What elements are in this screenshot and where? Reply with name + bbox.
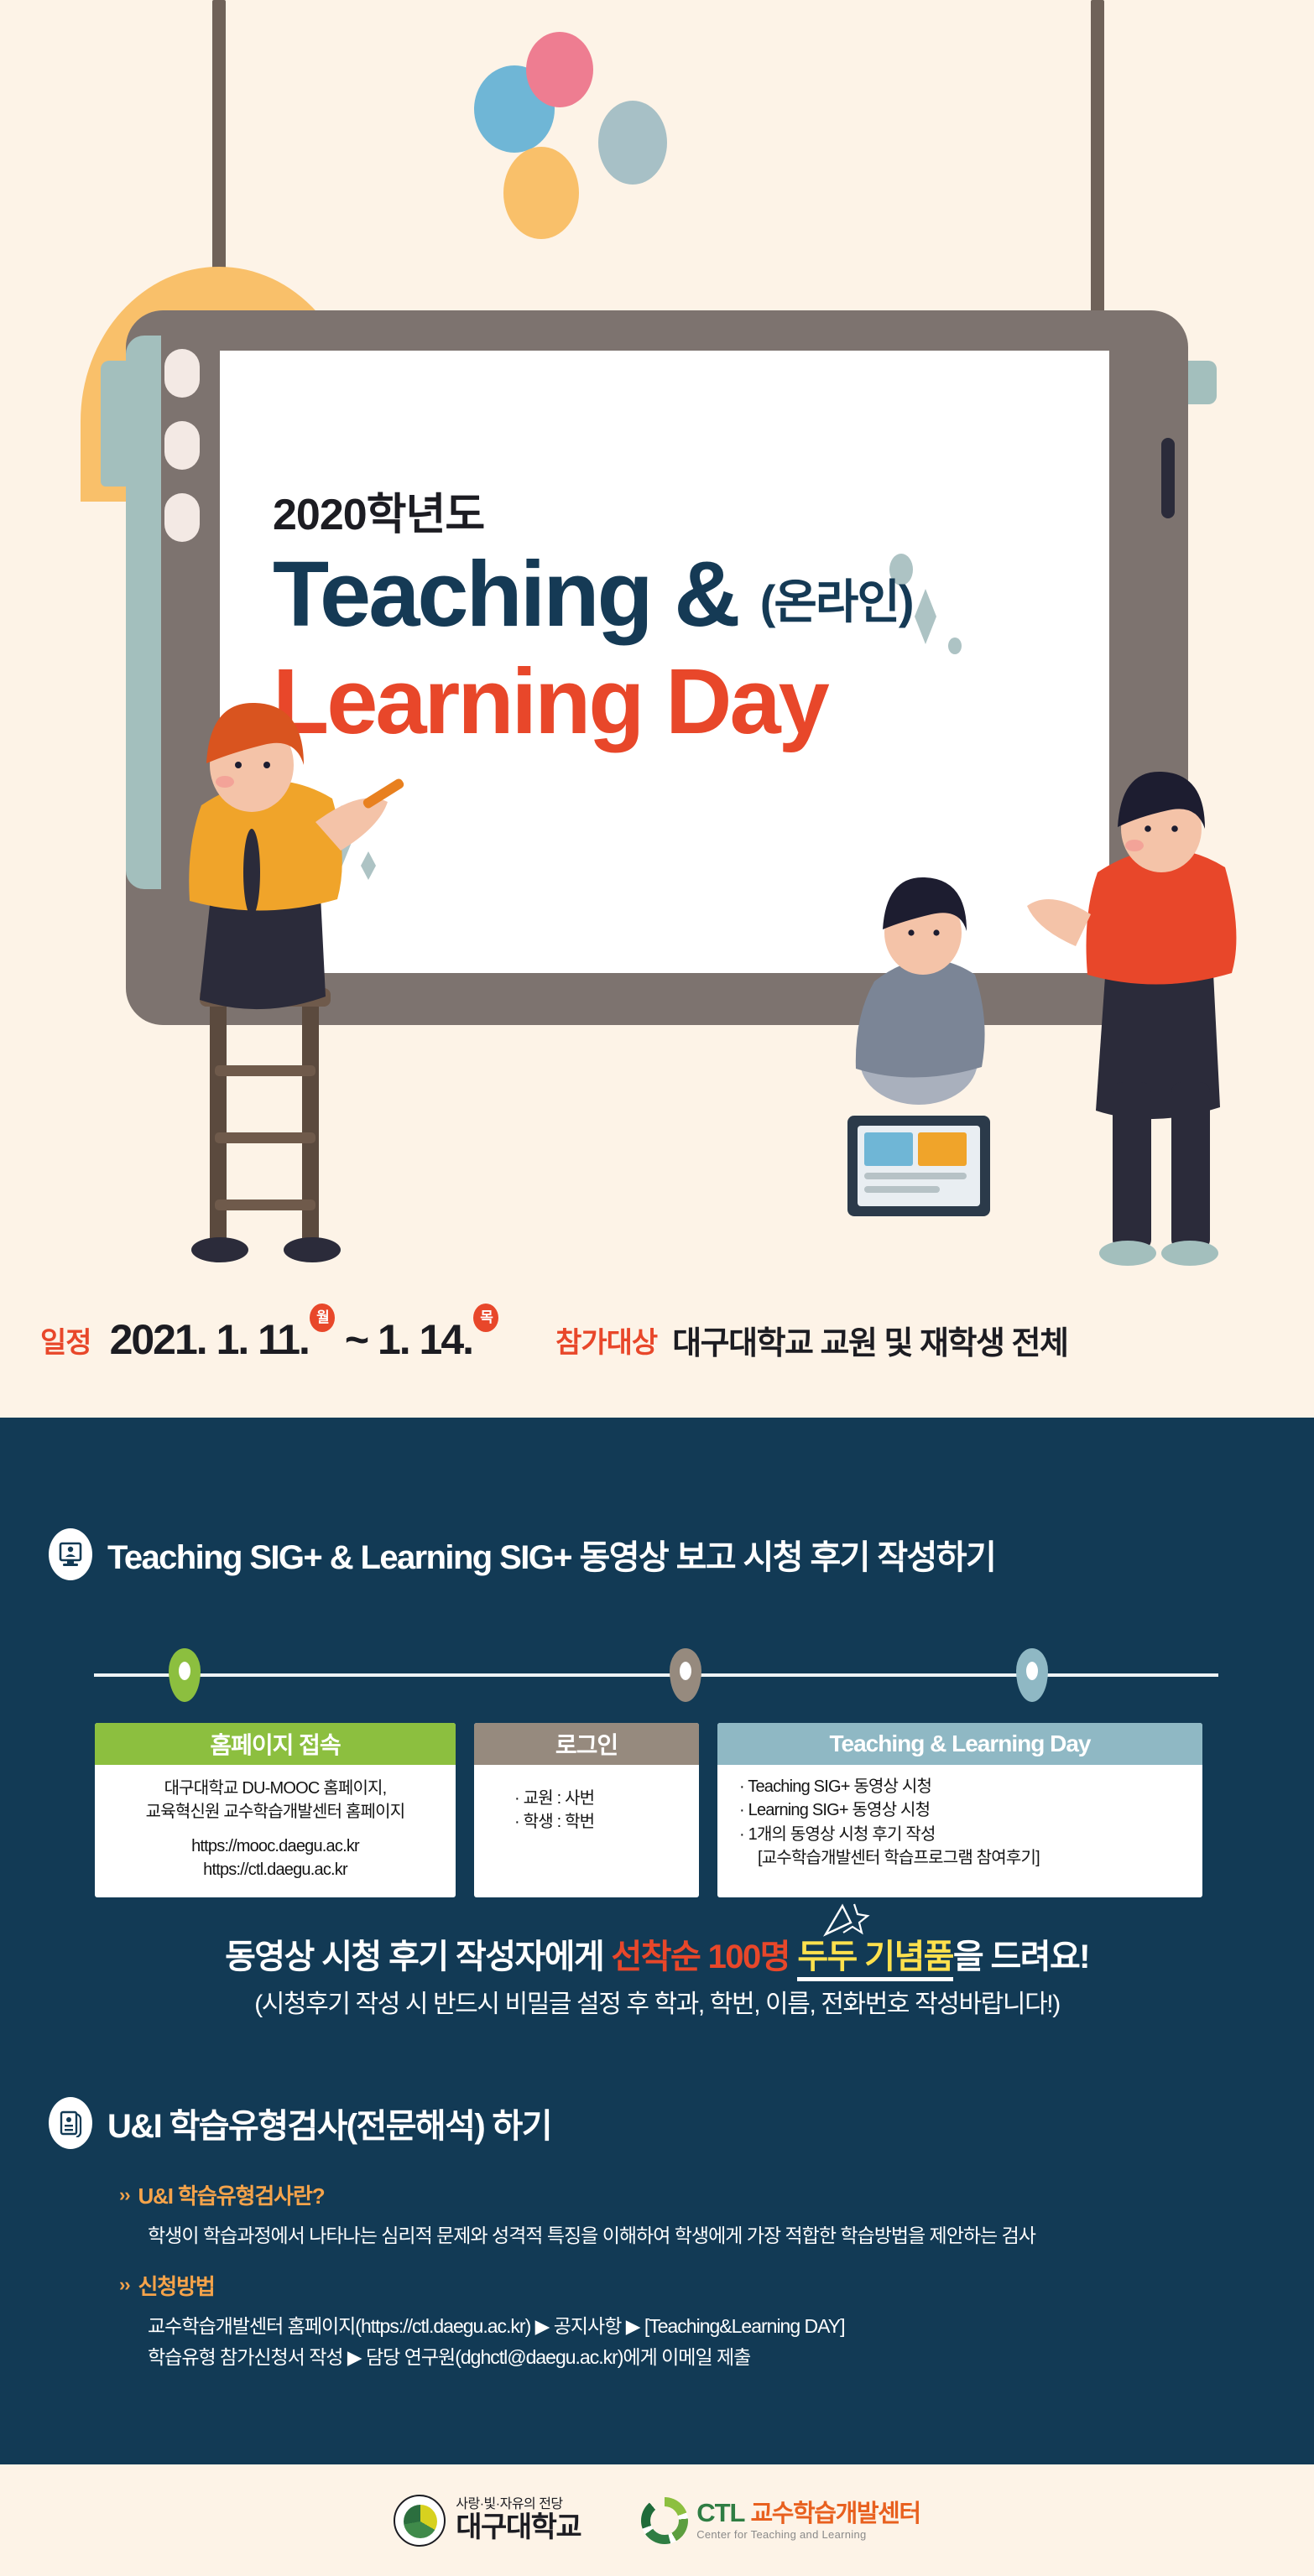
ui-item-howto-body: 교수학습개발센터 홈페이지(https://ctl.daegu.ac.kr) ▶… [148, 2311, 1277, 2373]
ctl-logo-text: CTL 교수학습개발센터 Center for Teaching and Lea… [696, 2500, 920, 2541]
gift-suffix: 을 드려요! [953, 1939, 1089, 1975]
ui-item-definition-title: U&I 학습유형검사란? [138, 2179, 324, 2210]
step-card-homepage: 홈페이지 접속 대구대학교 DU-MOOC 홈페이지, 교육혁신원 교수학습개발… [95, 1723, 456, 1897]
pin-day [1016, 1648, 1048, 1702]
gift-prefix: 동영상 시청 후기 작성자에게 [225, 1939, 611, 1975]
ctl-logo-row: CTL 교수학습개발센터 [696, 2500, 920, 2527]
schedule-value: 2021. 1. 11.월 ~ 1. 14.목 [110, 1315, 499, 1364]
section2-items: ›› U&I 학습유형검사란? 학생이 학습과정에서 나타나는 심리적 문제와 … [119, 2179, 1277, 2391]
homepage-url-mooc[interactable]: https://mooc.daegu.ac.kr [105, 1834, 446, 1858]
login-line-student: · 학생 : 학번 [514, 1810, 689, 1834]
gift-highlight-count: 선착순 100명 [612, 1939, 790, 1975]
footer-logos: 사랑·빛·자유의 전당 대구대학교 CTL 교수학습개발센터 Center fo… [0, 2464, 1314, 2576]
step-card-login-body: · 교원 : 사번 · 학생 : 학번 [474, 1765, 699, 1897]
double-chevron-right-icon: ›› [119, 2274, 129, 2296]
schedule-start-day-badge: 월 [310, 1304, 335, 1332]
ctl-english-name: Center for Teaching and Learning [696, 2529, 920, 2541]
schedule-end-date: 1. 14. [378, 1315, 472, 1364]
daegu-university-name: 대구대학교 [456, 2512, 581, 2543]
person-writing-on-board [189, 703, 405, 1262]
ui-howto-step-1: 교수학습개발센터 홈페이지(https://ctl.daegu.ac.kr) ▶… [148, 2311, 1277, 2342]
gift-announcement: 동영상 시청 후기 작성자에게 선착순 100명 두두 기념품을 드려요! [0, 1929, 1314, 1978]
lower-people-illustration [0, 0, 1314, 1418]
homepage-line-1: 대구대학교 DU-MOOC 홈페이지, [105, 1777, 446, 1800]
ui-item-howto-title-row: ›› 신청방법 [119, 2270, 1277, 2301]
poster-root: 2020학년도 Teaching & (온라인) Learning Day [0, 0, 1314, 2576]
audience-label: 참가대상 [555, 1319, 657, 1361]
ui-item-howto-title: 신청방법 [138, 2270, 214, 2301]
section2-title: U&I 학습유형검사(전문해석) 하기 [107, 2099, 551, 2147]
schedule-tilde: ~ [345, 1315, 368, 1364]
double-chevron-right-icon: ›› [119, 2184, 129, 2206]
schedule-year: 2021. [110, 1315, 206, 1364]
step-card-login-header: 로그인 [474, 1723, 699, 1765]
section2-header: U&I 학습유형검사(전문해석) 하기 [49, 2097, 551, 2149]
steps-timeline [94, 1673, 1218, 1677]
audience-value: 대구대학교 교원 및 재학생 전체 [672, 1317, 1067, 1363]
ui-item-definition: ›› U&I 학습유형검사란? 학생이 학습과정에서 나타나는 심리적 문제와 … [119, 2179, 1277, 2251]
steps-card-list: 홈페이지 접속 대구대학교 DU-MOOC 홈페이지, 교육혁신원 교수학습개발… [95, 1723, 1219, 1897]
ctl-logo: CTL 교수학습개발센터 Center for Teaching and Lea… [641, 2497, 920, 2544]
step-card-login: 로그인 · 교원 : 사번 · 학생 : 학번 [474, 1723, 699, 1897]
daegu-university-logo: 사랑·빛·자유의 전당 대구대학교 [394, 2495, 581, 2547]
schedule-start-date: 1. 11. [216, 1315, 309, 1364]
step-card-homepage-body: 대구대학교 DU-MOOC 홈페이지, 교육혁신원 교수학습개발센터 홈페이지 … [95, 1765, 456, 1897]
daegu-university-tagline: 사랑·빛·자유의 전당 [456, 2497, 581, 2512]
ui-item-definition-body: 학생이 학습과정에서 나타나는 심리적 문제와 성격적 특징을 이해하여 학생에… [148, 2220, 1277, 2251]
pin-homepage [169, 1648, 201, 1702]
audience-group: 참가대상 대구대학교 교원 및 재학생 전체 [555, 1317, 1067, 1363]
homepage-url-list: https://mooc.daegu.ac.kr https://ctl.dae… [105, 1834, 446, 1882]
section1-header: Teaching SIG+ & Learning SIG+ 동영상 보고 시청 … [0, 1485, 1314, 1580]
daegu-university-logo-text: 사랑·빛·자유의 전당 대구대학교 [456, 2497, 581, 2543]
step-card-homepage-header: 홈페이지 접속 [95, 1723, 456, 1765]
person-standing-right [1027, 772, 1236, 1266]
ui-howto-step-2: 학습유형 참가신청서 작성 ▶ 담당 연구원(dghctl@daegu.ac.k… [148, 2342, 1277, 2373]
day-line-teaching: · Teaching SIG+ 동영상 시청 [739, 1775, 1192, 1798]
ctl-ring-icon [641, 2497, 688, 2544]
pin-login [670, 1648, 701, 1702]
monitor-person-icon [49, 1528, 92, 1580]
daegu-university-emblem-icon [394, 2495, 446, 2547]
day-line-bracket-note: [교수학습개발센터 학습프로그램 참여후기] [739, 1846, 1192, 1870]
step-card-day-body: · Teaching SIG+ 동영상 시청 · Learning SIG+ 동… [717, 1765, 1202, 1897]
step-card-day: Teaching & Learning Day · Teaching SIG+ … [717, 1723, 1202, 1897]
book-test-icon [49, 2097, 92, 2149]
person-sitting-with-tablet [847, 877, 990, 1216]
schedule-label: 일정 [40, 1319, 91, 1361]
day-line-review: · 1개의 동영상 시청 후기 작성 [739, 1823, 1192, 1846]
schedule-end-day-badge: 목 [473, 1304, 498, 1332]
ui-item-definition-title-row: ›› U&I 학습유형검사란? [119, 2179, 1277, 2210]
step-card-day-header: Teaching & Learning Day [717, 1723, 1202, 1765]
schedule-audience-bar: 일정 2021. 1. 11.월 ~ 1. 14.목 참가대상 대구대학교 교원… [0, 1302, 1314, 1377]
homepage-url-ctl[interactable]: https://ctl.daegu.ac.kr [105, 1858, 446, 1881]
hero-illustration-section: 2020학년도 Teaching & (온라인) Learning Day [0, 0, 1314, 1418]
login-line-faculty: · 교원 : 사번 [514, 1787, 689, 1810]
ui-item-howto: ›› 신청방법 교수학습개발센터 홈페이지(https://ctl.daegu.… [119, 2270, 1277, 2373]
section1-title: Teaching SIG+ & Learning SIG+ 동영상 보고 시청 … [107, 1530, 995, 1579]
ctl-abbreviation: CTL [696, 2500, 744, 2527]
gift-note: (시청후기 작성 시 반드시 비밀글 설정 후 학과, 학번, 이름, 전화번호… [0, 1983, 1314, 2020]
homepage-line-2: 교육혁신원 교수학습개발센터 홈페이지 [105, 1800, 446, 1824]
gift-highlight-item: 두두 기념품 [797, 1939, 953, 1981]
day-line-learning: · Learning SIG+ 동영상 시청 [739, 1798, 1192, 1822]
ctl-korean-name: 교수학습개발센터 [750, 2501, 920, 2527]
